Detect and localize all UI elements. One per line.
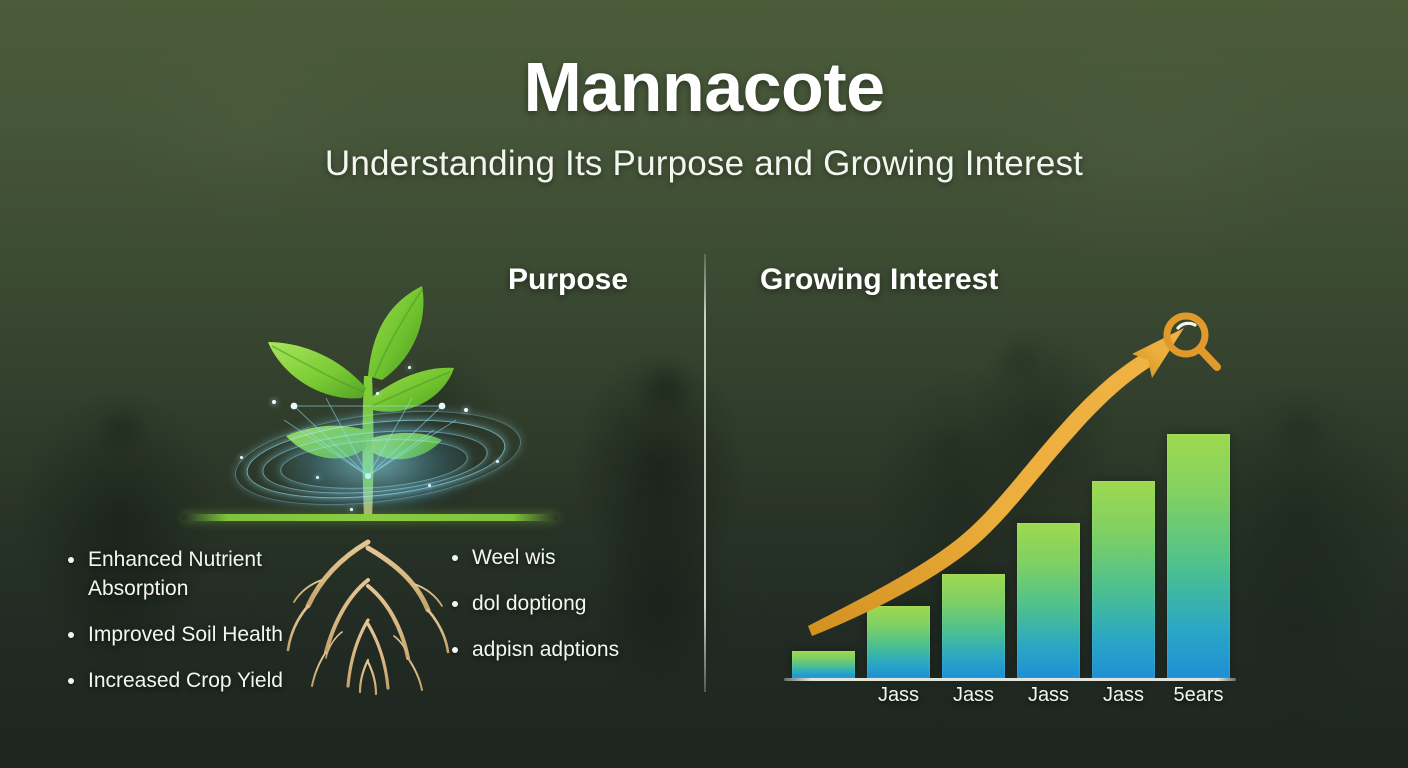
chart-bar bbox=[942, 574, 1005, 678]
magnifying-glass-icon bbox=[1158, 308, 1228, 378]
purpose-bullet-list-secondary: Weel wis dol doptiong adpisn adptions bbox=[450, 543, 680, 681]
chart-bar bbox=[792, 651, 855, 678]
spark bbox=[350, 508, 353, 511]
x-axis-tick-label: Jass bbox=[934, 684, 1014, 707]
spark bbox=[240, 456, 243, 459]
chart-bar bbox=[1017, 523, 1080, 678]
spark bbox=[464, 408, 468, 412]
spark bbox=[316, 476, 319, 479]
spark bbox=[272, 400, 276, 404]
list-item: Enhanced Nutrient Absorption bbox=[66, 545, 296, 603]
x-axis-tick-label: Jass bbox=[859, 684, 939, 707]
section-heading-growing-interest: Growing Interest bbox=[760, 263, 998, 297]
page-subtitle: Understanding Its Purpose and Growing In… bbox=[0, 144, 1408, 184]
chart-axis-line bbox=[784, 678, 1236, 681]
chart-bar bbox=[1167, 434, 1230, 678]
list-item: Increased Crop Yield bbox=[66, 666, 296, 695]
spark bbox=[376, 392, 379, 395]
page-title: Mannacote bbox=[0, 52, 1408, 122]
soil-line bbox=[182, 514, 558, 521]
header: Mannacote Understanding Its Purpose and … bbox=[0, 0, 1408, 184]
spark bbox=[428, 484, 431, 487]
x-axis-tick-label: 5ears bbox=[1159, 684, 1239, 707]
list-item: Weel wis bbox=[450, 543, 680, 572]
section-divider bbox=[704, 254, 706, 692]
list-item: adpisn adptions bbox=[450, 635, 680, 664]
x-axis-tick-label: Jass bbox=[1009, 684, 1089, 707]
growing-interest-bar-chart: Jass Jass Jass Jass 5ears bbox=[780, 300, 1250, 700]
spark bbox=[496, 460, 499, 463]
list-item: Improved Soil Health bbox=[66, 620, 296, 649]
x-axis-tick-label: Jass bbox=[1084, 684, 1164, 707]
chart-bar bbox=[867, 606, 930, 678]
spark bbox=[408, 366, 411, 369]
infographic-canvas: Mannacote Understanding Its Purpose and … bbox=[0, 0, 1408, 768]
purpose-bullet-list-primary: Enhanced Nutrient Absorption Improved So… bbox=[66, 545, 296, 712]
chart-bar bbox=[1092, 481, 1155, 678]
list-item: dol doptiong bbox=[450, 589, 680, 618]
